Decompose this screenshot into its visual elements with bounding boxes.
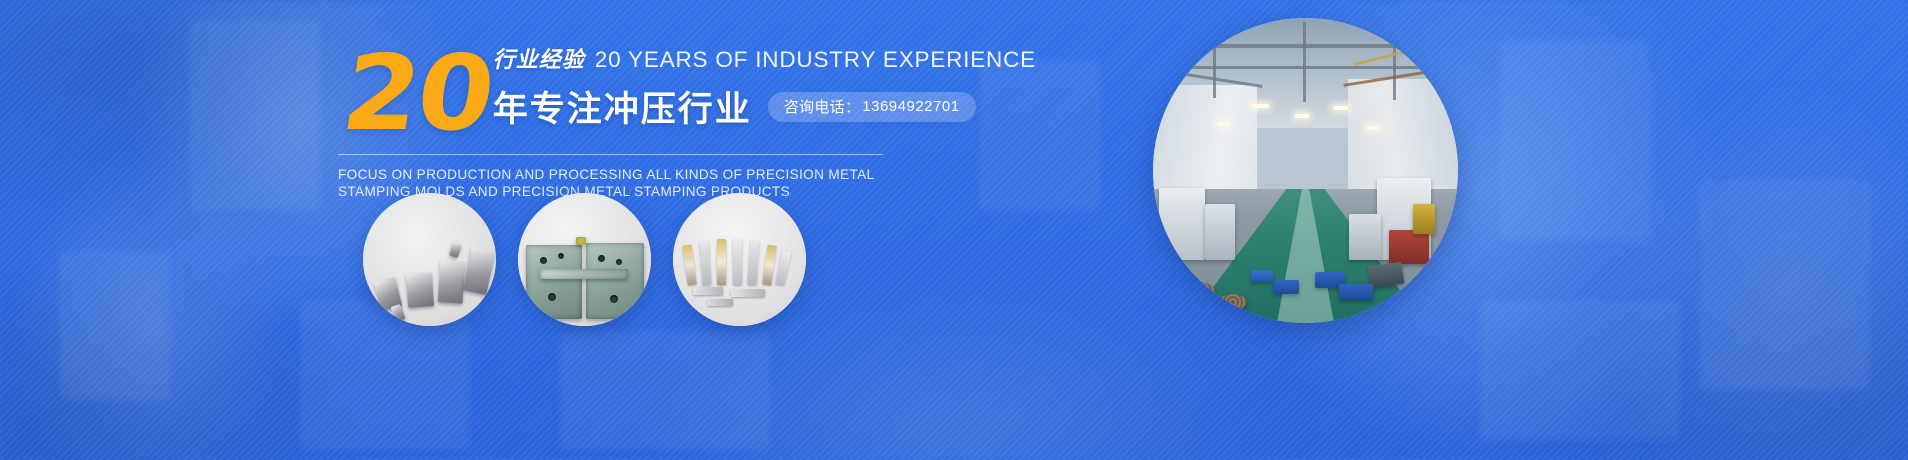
industry-experience-cn-label: 行业经验 [493,42,585,74]
stamping-focus-cn-headline: 年专注冲压行业 [493,81,752,132]
precision-stamping-mold-photo [518,193,651,326]
consult-phone-label: 咨询电话： [784,96,861,117]
factory-scene [1153,18,1458,323]
headline-line-1: 行业经验 20 YEARS OF INDUSTRY EXPERIENCE [493,42,1036,74]
consult-phone-number: 13694922701 [862,98,959,115]
factory-workshop-photo [1153,18,1458,323]
usb-connector-parts-photo [363,193,496,326]
headline-divider [338,154,883,155]
headline-line-2: 年专注冲压行业 咨询电话： 13694922701 [493,81,1036,132]
promo-banner: 20 行业经验 20 YEARS OF INDUSTRY EXPERIENCE … [0,0,1908,460]
industry-experience-en-label: 20 YEARS OF INDUSTRY EXPERIENCE [595,47,1036,73]
metal-terminal-pins-photo [673,193,806,326]
headline-row: 20 行业经验 20 YEARS OF INDUSTRY EXPERIENCE … [338,42,898,136]
headline-right-column: 行业经验 20 YEARS OF INDUSTRY EXPERIENCE 年专注… [493,42,1036,136]
consult-phone-badge[interactable]: 咨询电话： 13694922701 [768,92,976,122]
headline-text-block: 20 行业经验 20 YEARS OF INDUSTRY EXPERIENCE … [338,42,898,201]
product-photo-circles [363,193,806,326]
years-number: 20 [338,51,498,136]
